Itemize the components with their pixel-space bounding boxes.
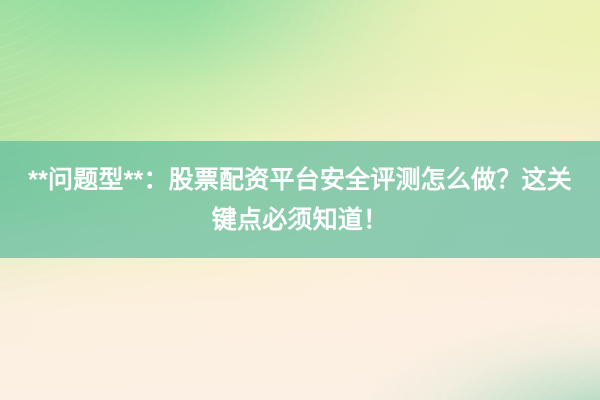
headline-line-2: 键点必须知道！	[212, 200, 388, 240]
headline-text-block: **问题型**：股票配资平台安全评测怎么做？这关 键点必须知道！	[0, 141, 600, 258]
poster-canvas: **问题型**：股票配资平台安全评测怎么做？这关 键点必须知道！	[0, 0, 600, 400]
headline-line-1: **问题型**：股票配资平台安全评测怎么做？这关	[28, 160, 572, 200]
